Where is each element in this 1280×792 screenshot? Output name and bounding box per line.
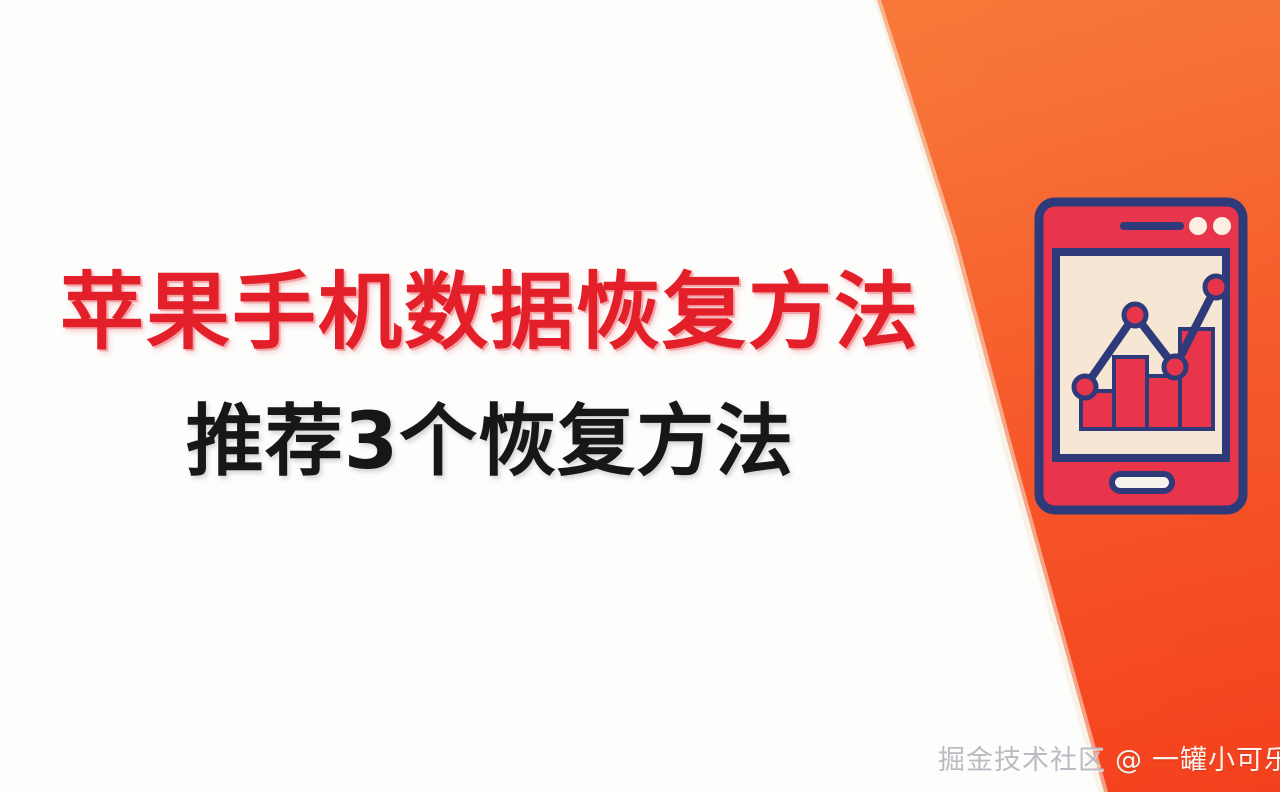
chart-point-3 <box>1164 356 1186 378</box>
chart-bar-2 <box>1114 357 1147 429</box>
home-button[interactable] <box>1112 474 1172 491</box>
page-subtitle: 推荐3个恢复方法 <box>0 402 980 484</box>
watermark-username: 一罐小可乐 <box>1152 738 1280 777</box>
watermark-at-symbol: @ <box>1115 745 1143 776</box>
poster-canvas: 苹果手机数据恢复方法 推荐3个恢复方法 <box>0 0 1280 792</box>
camera-icon <box>1189 217 1207 235</box>
chart-point-1 <box>1074 376 1096 398</box>
watermark: 掘金技术社区 @ 一罐小可乐 <box>938 738 1280 777</box>
sensor-icon <box>1213 217 1231 235</box>
smartphone-illustration <box>1034 197 1248 515</box>
watermark-site: 掘金技术社区 <box>938 738 1106 777</box>
chart-bar-3 <box>1147 376 1180 429</box>
headline-block: 苹果手机数据恢复方法 推荐3个恢复方法 <box>0 268 980 484</box>
chart-point-2 <box>1124 304 1146 326</box>
chart-point-4 <box>1205 276 1227 298</box>
smartphone-chart-icon <box>1034 197 1248 515</box>
page-title: 苹果手机数据恢复方法 <box>0 268 980 356</box>
speaker-icon <box>1120 222 1184 230</box>
